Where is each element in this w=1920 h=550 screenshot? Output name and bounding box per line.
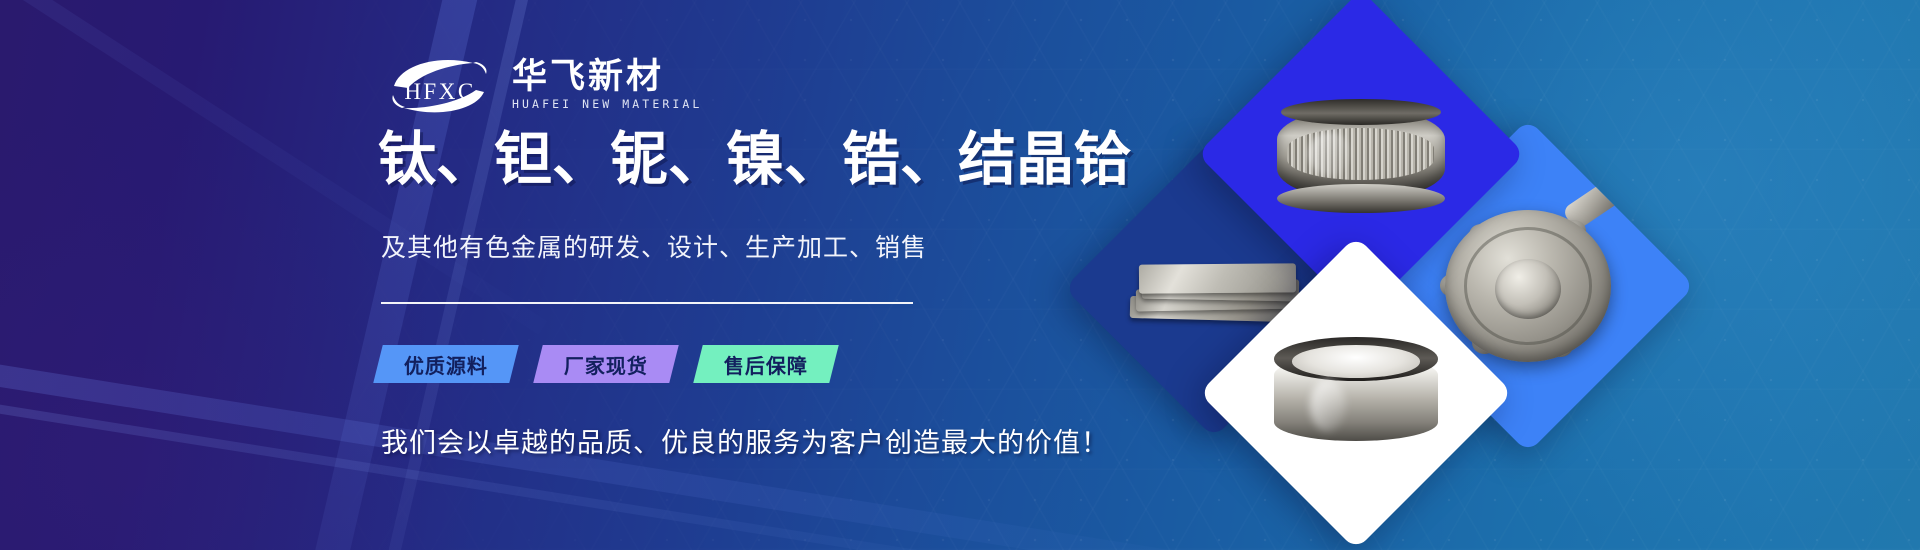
feature-badge-label: 优质源料 xyxy=(404,350,488,379)
feature-badge-1[interactable]: 厂家现货 xyxy=(533,345,678,383)
brand-logo[interactable]: HFXC 华飞新材 HUAFEI NEW MATERIAL xyxy=(380,52,702,116)
foil-roll-image xyxy=(1245,282,1467,504)
logo-mark: HFXC xyxy=(380,52,498,116)
hero-banner: HFXC 华飞新材 HUAFEI NEW MATERIAL 钛、钽、铌、镍、锆、… xyxy=(0,0,1920,550)
hero-tagline: 我们会以卓越的品质、优良的服务为客户创造最大的价值！ xyxy=(381,430,1109,457)
feature-badge-label: 售后保障 xyxy=(724,350,808,379)
product-gallery xyxy=(1060,0,1920,550)
hero-subheadline: 及其他有色金属的研发、设计、生产加工、销售 xyxy=(381,235,927,260)
divider-line xyxy=(381,302,913,304)
brand-name-cn: 华飞新材 xyxy=(512,59,702,96)
feature-badge-2[interactable]: 售后保障 xyxy=(693,345,838,383)
hero-headline: 钛、钽、铌、镍、锆、结晶铪 xyxy=(378,130,1132,188)
wire-spool-image xyxy=(1245,38,1477,270)
logo-initials: HFXC xyxy=(388,80,492,103)
feature-badge-0[interactable]: 优质源料 xyxy=(373,345,518,383)
logo-text: 华飞新材 HUAFEI NEW MATERIAL xyxy=(512,57,702,110)
brand-name-en: HUAFEI NEW MATERIAL xyxy=(512,99,702,111)
feature-badge-label: 厂家现货 xyxy=(564,350,648,379)
feature-badge-list: 优质源料 厂家现货 售后保障 xyxy=(378,345,834,383)
